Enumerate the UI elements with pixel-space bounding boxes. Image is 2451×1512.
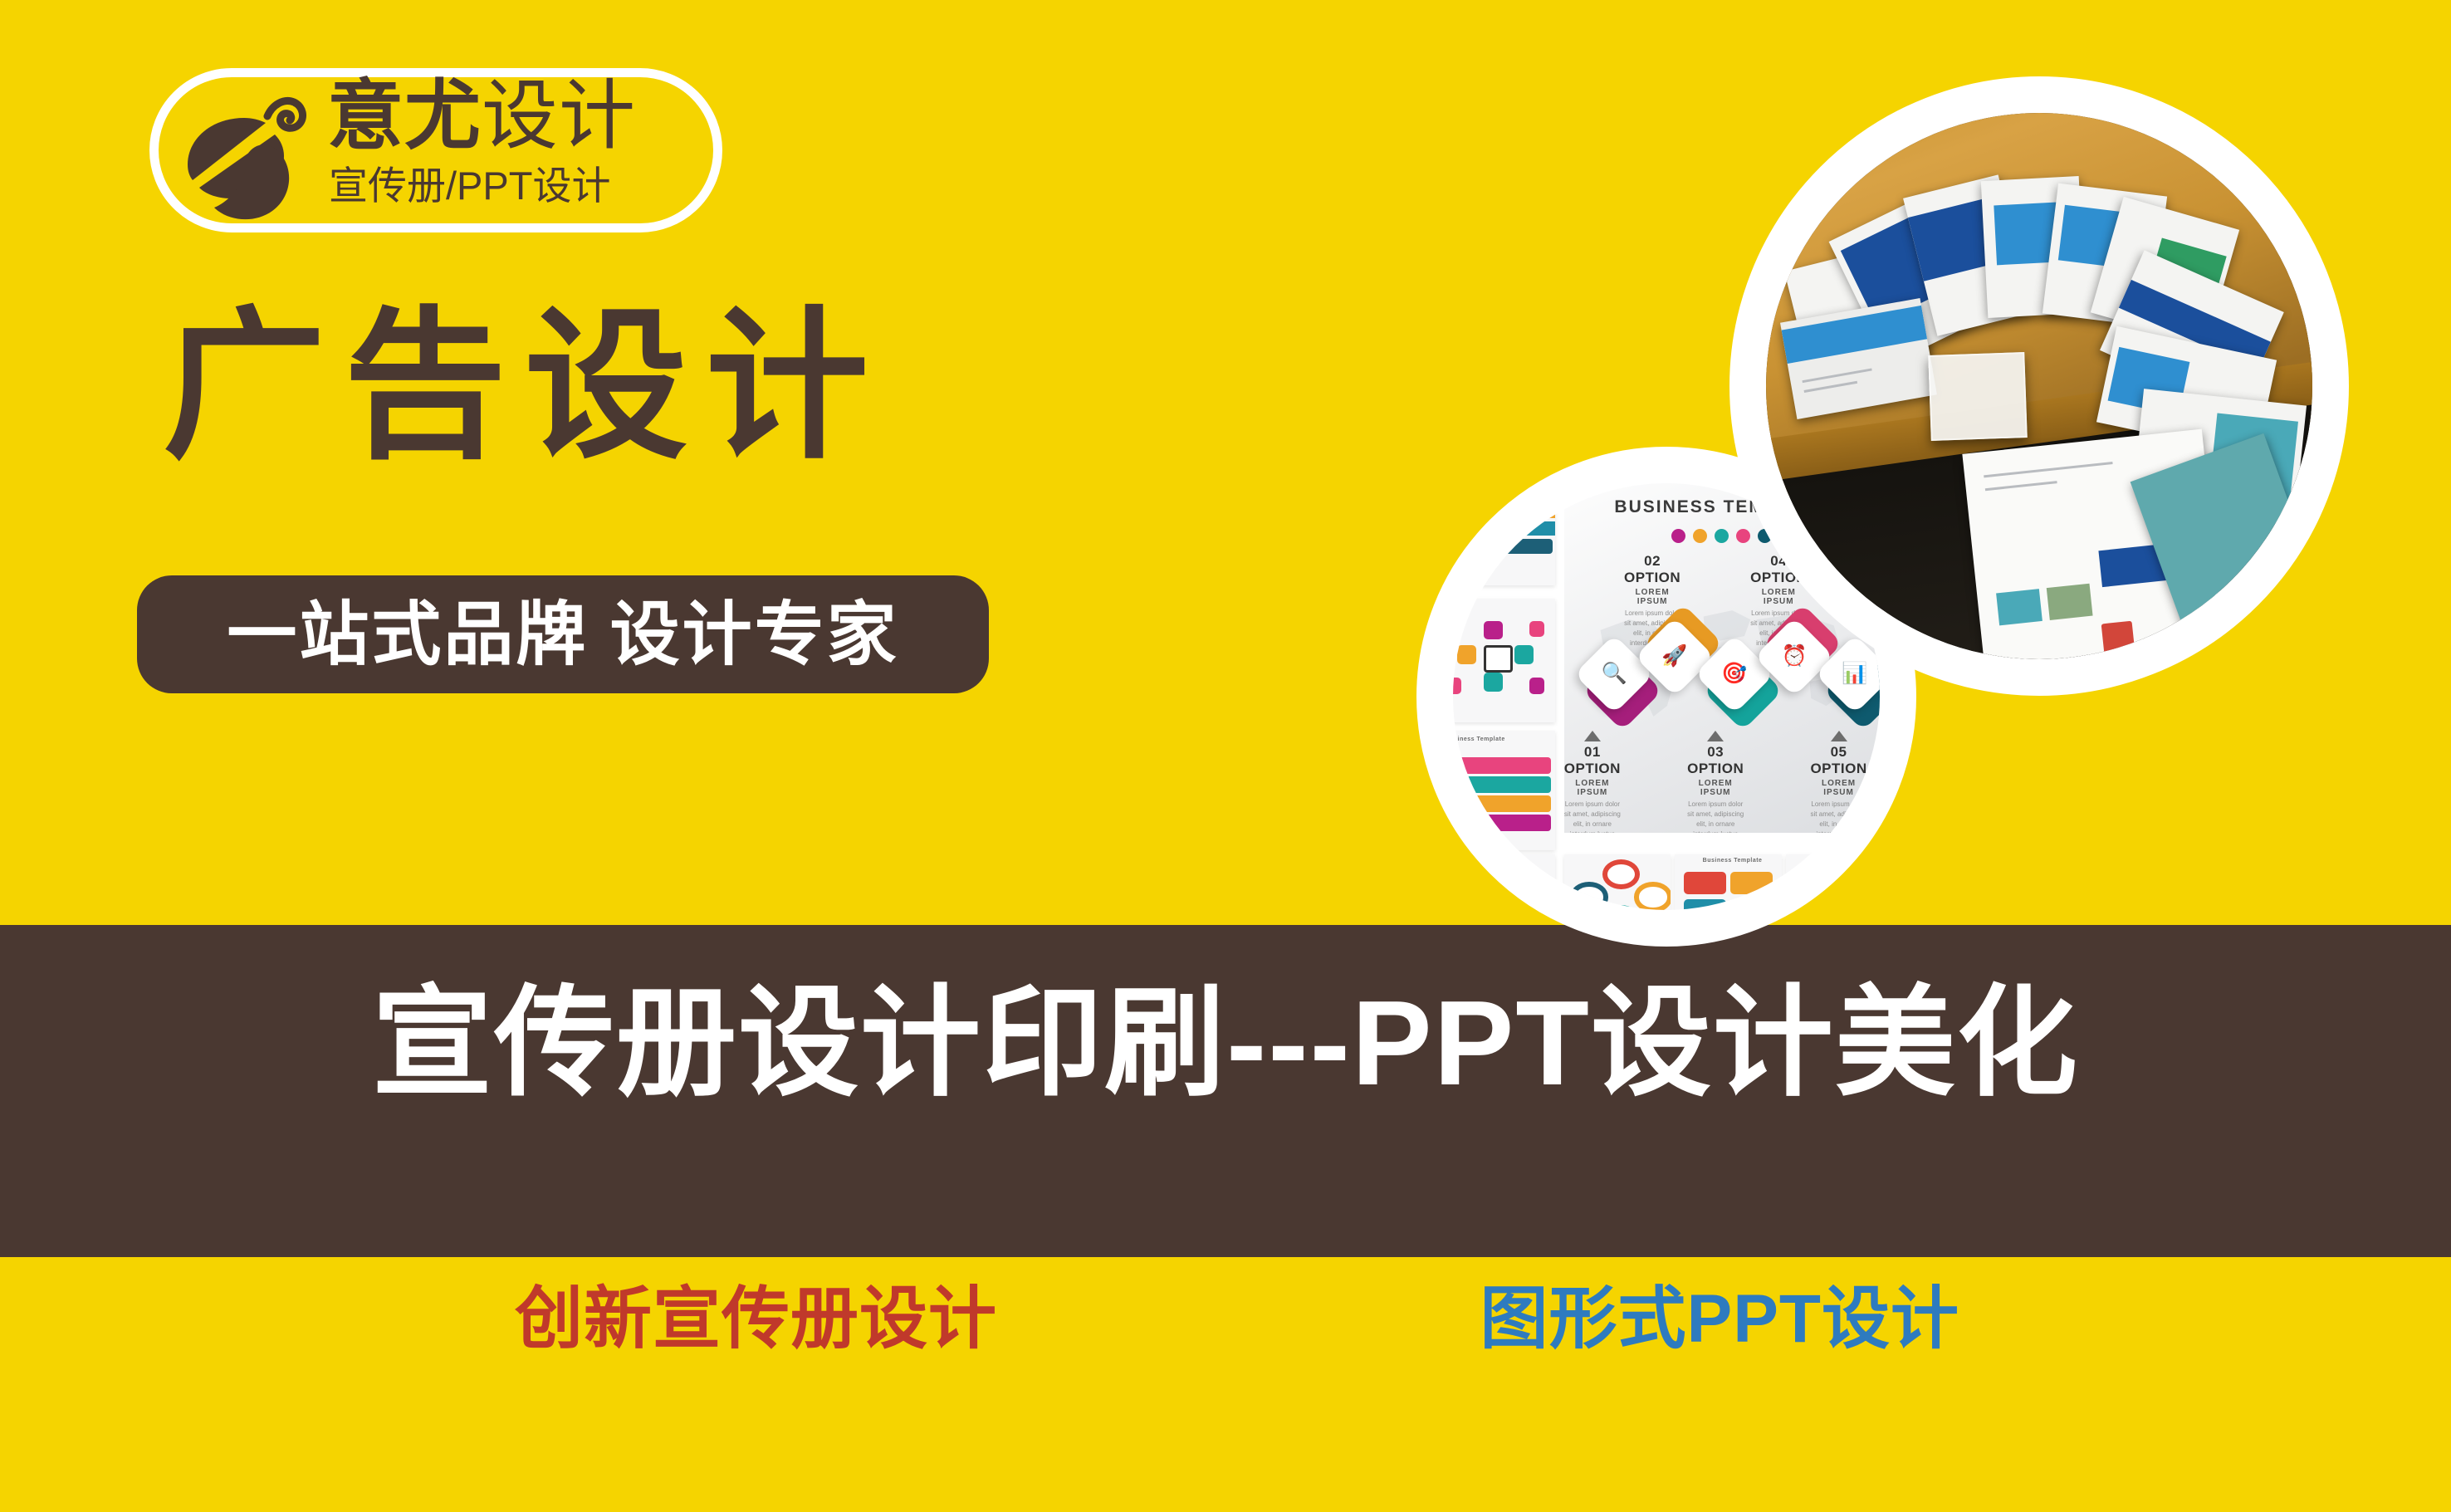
option-05-sub: LOREM IPSUM	[1808, 779, 1871, 797]
seed-sprout-logo-icon	[168, 75, 316, 226]
advertising-banner: 意尤设计 宣传册/PPT设计 广告设计 一站式品牌 设计专家 宣传册设计印刷--…	[0, 0, 2451, 1512]
service-band-label: 宣传册设计印刷---PPT设计美化	[0, 974, 2451, 1113]
logo-subtitle: 宣传册/PPT设计	[329, 166, 610, 205]
brochure-scene	[1766, 113, 2312, 659]
tagline-ppt: 图形式PPT设计	[1480, 1285, 1959, 1353]
arrow-up-icon	[1831, 731, 1847, 741]
logo-text: 意尤设计 宣传册/PPT设计	[327, 73, 709, 231]
option-02-sub: LOREM IPSUM	[1621, 588, 1684, 606]
thumb-cone-layers: Business Template	[1453, 731, 1555, 850]
rocket-icon: 🚀	[1646, 629, 1703, 685]
business-card-holder	[1929, 352, 2028, 441]
thumb-cross-grid	[1453, 599, 1555, 722]
thumb-ribbon-steps	[1453, 483, 1555, 585]
page-title: 广告设计	[163, 306, 887, 468]
logo-brand-thin: 设计	[482, 74, 636, 159]
option-03-label: 03 OPTION LOREM IPSUM Lorem ipsum dolor …	[1684, 728, 1747, 833]
target-icon: 🎯	[1706, 646, 1763, 702]
option-03-sub: LOREM IPSUM	[1684, 779, 1747, 797]
option-01-num: 01 OPTION	[1564, 744, 1624, 777]
option-05-label: 05 OPTION LOREM IPSUM Lorem ipsum dolor …	[1808, 728, 1871, 833]
option-05-body: Lorem ipsum dolor sit amet, adipiscing e…	[1808, 800, 1871, 833]
option-01-label: 01 OPTION LOREM IPSUM Lorem ipsum dolor …	[1564, 728, 1624, 833]
arrow-up-icon	[1584, 731, 1601, 741]
option-02-num: 02 OPTION	[1621, 553, 1684, 586]
magnifier-icon: 🔍	[1586, 646, 1642, 702]
option-01-sub: LOREM IPSUM	[1564, 779, 1624, 797]
tagline-row: 创新宣传册设计 图形式PPT设计	[515, 1285, 2109, 1353]
option-01-body: Lorem ipsum dolor sit amet, adipiscing e…	[1564, 800, 1624, 833]
thumb-map-option: BUSINESS TEMPLATE	[1453, 854, 1555, 910]
tagline-brochure: 创新宣传册设计	[515, 1285, 997, 1353]
brochures-photo	[1729, 76, 2349, 696]
option-05-num: 05 OPTION	[1808, 744, 1871, 777]
logo-title: 意尤设计	[327, 78, 636, 154]
badge-label: 一站式品牌 设计专家	[227, 599, 898, 669]
thumb-circle-cycle	[1564, 854, 1671, 910]
status-badge: 一站式品牌 设计专家	[137, 575, 989, 693]
brochures-photo-inner	[1766, 113, 2312, 659]
thumb-step-cards: Business Template	[1675, 854, 1782, 910]
option-03-body: Lorem ipsum dolor sit amet, adipiscing e…	[1684, 800, 1747, 833]
logo-brand-bold: 意尤	[327, 74, 482, 159]
option-03-num: 03 OPTION	[1684, 744, 1747, 777]
brand-logo[interactable]: 意尤设计 宣传册/PPT设计	[149, 68, 722, 232]
thumb-map-06: Business	[1786, 854, 1880, 910]
arrow-up-icon	[1707, 731, 1724, 741]
